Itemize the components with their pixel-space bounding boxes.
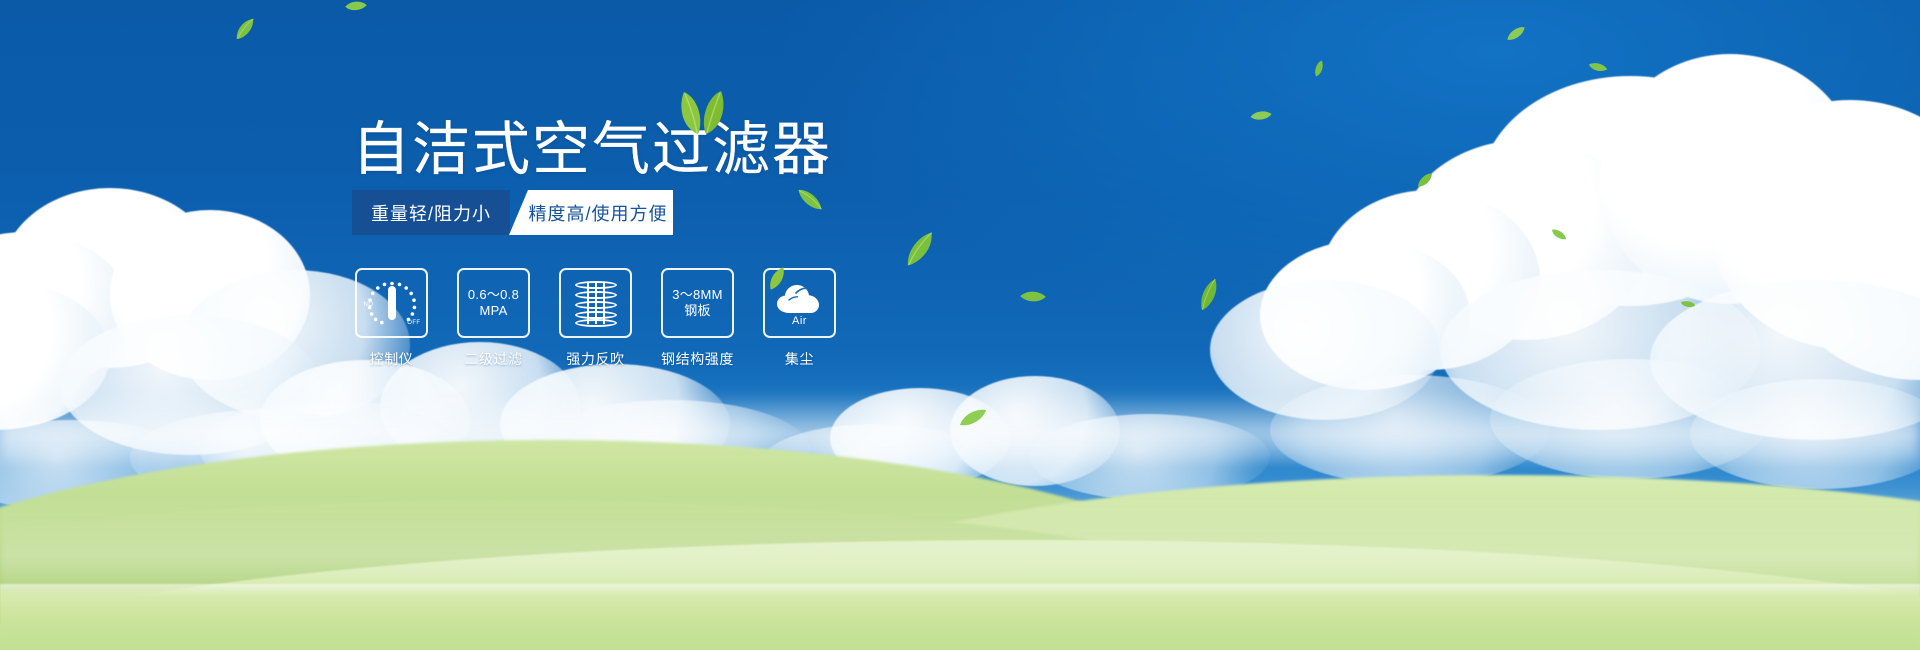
feature-icon-box: NO OFF bbox=[355, 268, 428, 338]
feature-icon-box bbox=[559, 268, 632, 338]
feature-item-controller[interactable]: NO OFF 控制仪 bbox=[355, 268, 428, 369]
feature-caption: 强力反吹 bbox=[566, 349, 624, 369]
gauge-dial-icon: NO OFF bbox=[365, 279, 419, 327]
feature-caption: 控制仪 bbox=[370, 349, 414, 369]
feature-caption: 钢结构强度 bbox=[661, 349, 734, 369]
air-cloud-icon: Air bbox=[772, 280, 828, 326]
steel-value-line2: 钢板 bbox=[684, 303, 711, 319]
gauge-label-no: NO bbox=[364, 302, 374, 308]
banner-content: 自洁式空气过滤器 重量轻/阻力小 精度高/使用方便 bbox=[0, 0, 1920, 650]
tab-weight-resistance[interactable]: 重量轻/阻力小 bbox=[352, 190, 510, 235]
feature-icon-box: 3～8MM 钢板 bbox=[661, 268, 734, 338]
feature-tabs: 重量轻/阻力小 精度高/使用方便 bbox=[352, 190, 673, 235]
gauge-label-off: OFF bbox=[407, 320, 420, 326]
pressure-value-line1: 0.6～0.8 bbox=[468, 287, 519, 303]
air-label: Air bbox=[772, 315, 828, 327]
headline-sprout-leaves-icon bbox=[672, 88, 732, 141]
feature-caption: 二级过滤 bbox=[464, 349, 522, 369]
page-title: 自洁式空气过滤器 bbox=[352, 119, 832, 181]
coil-filter-icon bbox=[573, 279, 619, 327]
feature-item-steel-strength[interactable]: 3～8MM 钢板 钢结构强度 bbox=[661, 268, 734, 369]
tab-precision-convenience[interactable]: 精度高/使用方便 bbox=[509, 190, 673, 235]
feature-icon-box: 0.6～0.8 MPA bbox=[457, 268, 530, 338]
feature-item-back-blow[interactable]: 强力反吹 bbox=[559, 268, 632, 369]
product-banner: 自洁式空气过滤器 重量轻/阻力小 精度高/使用方便 bbox=[0, 0, 1920, 650]
pressure-value-line2: MPA bbox=[479, 303, 507, 319]
feature-caption: 集尘 bbox=[785, 349, 814, 369]
feature-item-two-stage-filter[interactable]: 0.6～0.8 MPA 二级过滤 bbox=[457, 268, 530, 369]
steel-value-line1: 3～8MM bbox=[672, 287, 723, 303]
